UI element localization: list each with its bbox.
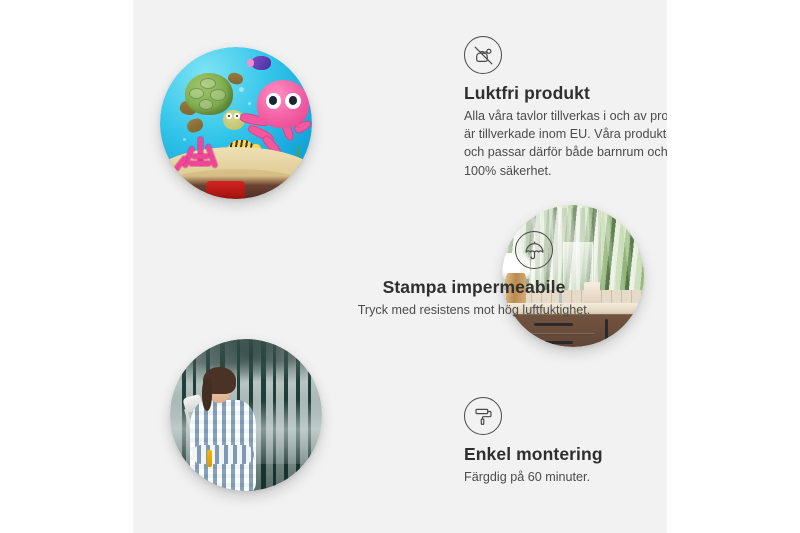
feature-title: Stampa impermeabile (324, 277, 624, 297)
feature-body: Tryck med resistens mot hög luftfuktighe… (324, 301, 624, 319)
feature-odourless: Luktfri produkt Alla våra tavlor tillver… (464, 36, 667, 180)
product-image-ocean (160, 47, 312, 199)
paint-roller-icon (464, 397, 502, 435)
person-arms (192, 445, 254, 464)
infographic-page: Luktfri produkt Alla våra tavlor tillver… (0, 0, 800, 533)
feature-body: Alla våra tavlor tillverkas i och av pro… (464, 107, 667, 180)
feature-waterproof: Stampa impermeabile Tryck med resistens … (324, 231, 624, 319)
yellow-tool (207, 450, 212, 467)
person-hair-side (202, 379, 212, 411)
forest-artwork (170, 339, 322, 491)
red-object (206, 181, 246, 199)
no-perfume-icon (464, 36, 502, 74)
feature-title: Enkel montering (464, 444, 667, 464)
feature-title: Luktfri produkt (464, 83, 667, 103)
coral-icon (175, 137, 227, 180)
ocean-artwork (160, 47, 312, 199)
feature-easy-install: Enkel montering Färgdig på 60 minuter. (464, 397, 667, 486)
product-image-forest (170, 339, 322, 491)
person-with-roller (182, 369, 264, 491)
umbrella-icon (515, 231, 553, 269)
content-panel: Luktfri produkt Alla våra tavlor tillver… (133, 0, 667, 533)
fish-purple-icon (251, 56, 271, 70)
feature-body: Färgdig på 60 minuter. (464, 468, 667, 486)
